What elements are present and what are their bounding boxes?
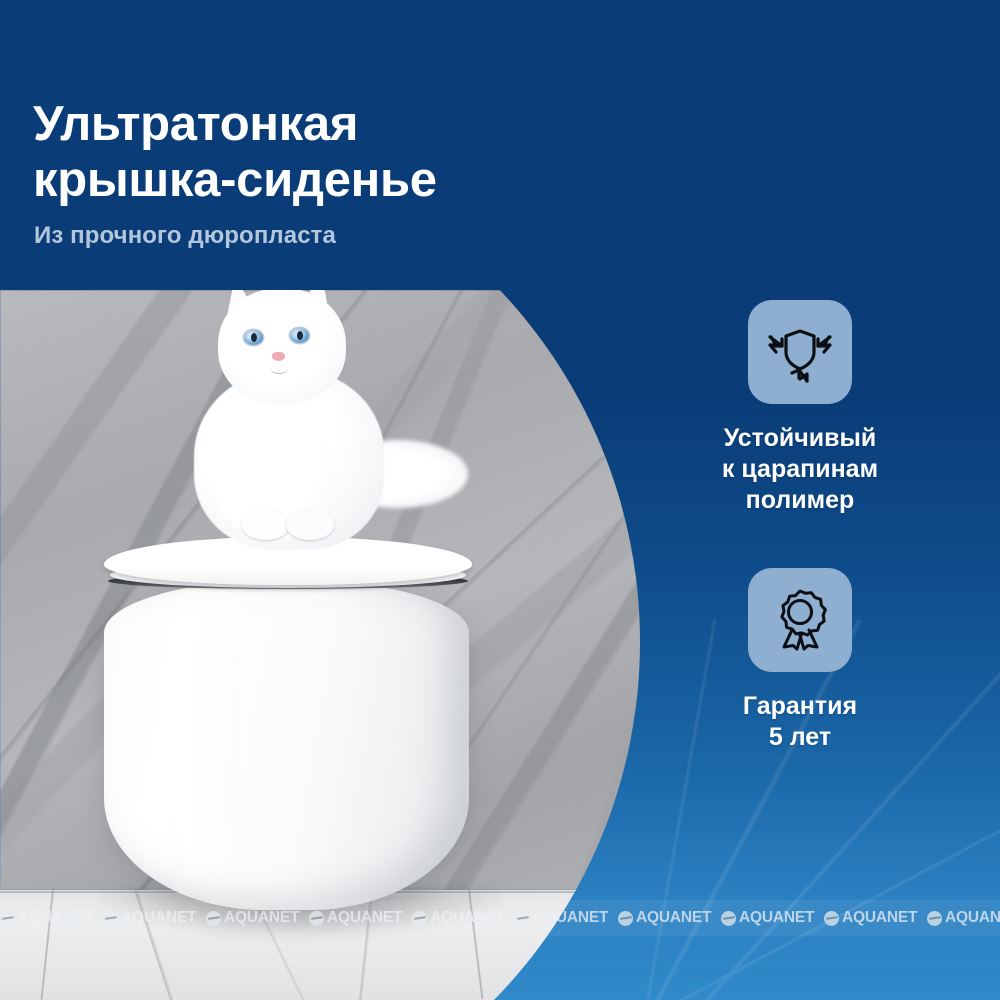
watermark-label: AQUANET (533, 909, 608, 927)
cat-head (218, 290, 346, 404)
cat-pupil-left (251, 333, 257, 342)
cat-illustration (150, 290, 450, 582)
product-banner: Ультратонкая крышка-сиденье Из прочного … (0, 0, 1000, 1000)
watermark-item: AQUANET (618, 909, 721, 927)
feature-badge-scratch-resistant: Устойчивый к царапинам полимер (660, 300, 940, 516)
watermark-label: AQUANET (636, 909, 711, 927)
watermark-item: AQUANET (412, 909, 515, 927)
watermark-label: AQUANET (224, 909, 299, 927)
watermark-label: AQUANET (739, 909, 814, 927)
aquanet-logo-icon (0, 911, 15, 926)
watermark-item: AQUANET (721, 909, 824, 927)
watermark-item: AQUANET (0, 909, 103, 927)
aquanet-logo-icon (412, 911, 427, 926)
shield-impact-icon (767, 321, 833, 383)
watermark-label: AQUANET (842, 909, 917, 927)
feature-badge-warranty: Гарантия 5 лет (660, 568, 940, 753)
aquanet-logo-icon (824, 911, 839, 926)
badge-label: Устойчивый к царапинам полимер (660, 423, 940, 516)
cat-paw (242, 510, 290, 540)
cat-nose (272, 352, 285, 361)
aquanet-logo-icon (206, 911, 221, 926)
watermark-item: AQUANET (103, 909, 206, 927)
watermark-item: AQUANET (206, 909, 309, 927)
badge-label: Гарантия 5 лет (660, 691, 940, 753)
cat-mouth (270, 362, 288, 374)
badge-icon-tile (748, 568, 852, 672)
aquanet-logo-icon (618, 911, 633, 926)
watermark-label: AQUANET (945, 909, 1000, 927)
watermark-strip: AQUANETAQUANETAQUANETAQUANETAQUANETAQUAN… (0, 900, 1000, 936)
watermark-label: AQUANET (430, 909, 505, 927)
aquanet-logo-icon (515, 911, 530, 926)
watermark-item: AQUANET (927, 909, 1000, 927)
watermark-label: AQUANET (18, 909, 93, 927)
aquanet-logo-icon (309, 911, 324, 926)
page-title: Ультратонкая крышка-сиденье (33, 96, 437, 208)
page-subtitle: Из прочного дюропласта (34, 222, 336, 250)
watermark-item: AQUANET (824, 909, 927, 927)
cat-paw (286, 510, 334, 540)
cat-pupil-right (297, 331, 303, 340)
watermark-label: AQUANET (327, 909, 402, 927)
aquanet-logo-icon (927, 911, 942, 926)
toilet-bowl (104, 580, 469, 910)
watermark-item: AQUANET (309, 909, 412, 927)
badge-icon-tile (748, 300, 852, 404)
watermark-item: AQUANET (515, 909, 618, 927)
aquanet-logo-icon (103, 911, 118, 926)
watermark-label: AQUANET (121, 909, 196, 927)
award-ribbon-icon (767, 587, 833, 653)
aquanet-logo-icon (721, 911, 736, 926)
